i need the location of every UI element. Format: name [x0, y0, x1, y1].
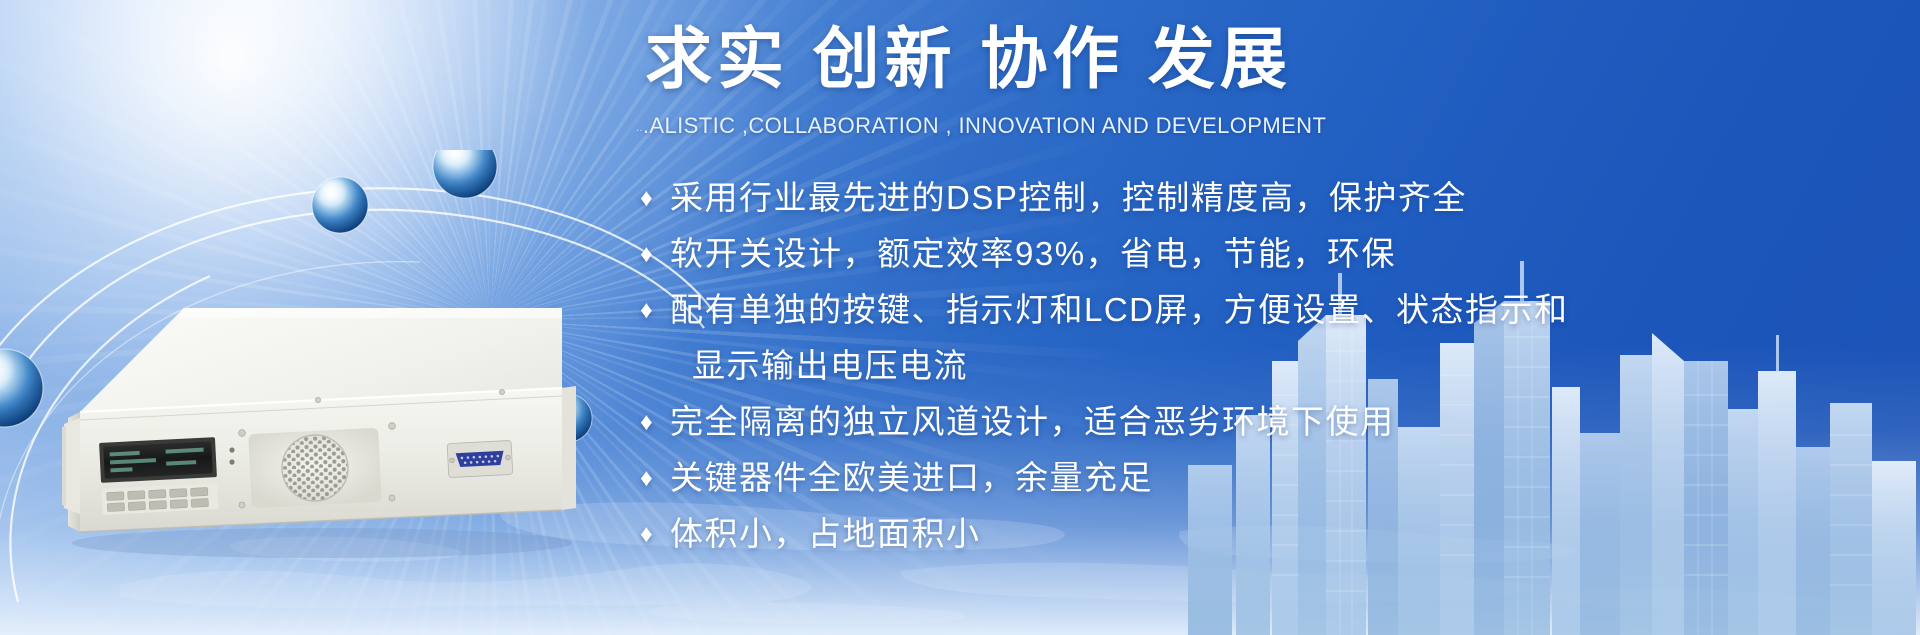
feature-list: ♦ 采用行业最先进的DSP控制，控制精度高，保护齐全 ♦ 软开关设计，额定效率9…	[640, 170, 1910, 562]
diamond-bullet-icon: ♦	[640, 506, 670, 562]
promo-banner: 求实 创新 协作 发展 ...ALISTIC ,COLLABORATION , …	[0, 0, 1920, 635]
diamond-bullet-icon: ♦	[640, 282, 670, 338]
list-item-label: 采用行业最先进的DSP控制，控制精度高，保护齐全	[670, 170, 1467, 226]
diamond-bullet-icon: ♦	[640, 394, 670, 450]
list-item-label: 完全隔离的独立风道设计，适合恶劣环境下使用	[670, 394, 1395, 450]
subtitle-text: .ALISTIC ,COLLABORATION , INNOVATION AND…	[643, 113, 1326, 138]
list-item-label: 软开关设计，额定效率93%，省电，节能，环保	[670, 226, 1396, 282]
list-item-label: 配有单独的按键、指示灯和LCD屏，方便设置、状态指示和	[670, 282, 1569, 338]
subtitle-prefix: ..	[636, 122, 643, 134]
list-item: ♦ 软开关设计，额定效率93%，省电，节能，环保	[640, 226, 1910, 282]
page-subtitle: ...ALISTIC ,COLLABORATION , INNOVATION A…	[636, 113, 1326, 139]
list-item: ♦ 配有单独的按键、指示灯和LCD屏，方便设置、状态指示和	[640, 282, 1910, 338]
text-content: 求实 创新 协作 发展 ...ALISTIC ,COLLABORATION , …	[0, 0, 1920, 635]
diamond-bullet-icon: ♦	[640, 170, 670, 226]
list-item: ♦ 完全隔离的独立风道设计，适合恶劣环境下使用	[640, 394, 1910, 450]
list-item-label: 显示输出电压电流	[670, 338, 968, 394]
list-item-label: 体积小，占地面积小	[670, 506, 981, 562]
page-title: 求实 创新 协作 发展	[645, 26, 1292, 93]
diamond-bullet-icon: ♦	[640, 226, 670, 282]
diamond-bullet-icon: ♦	[640, 450, 670, 506]
list-item: ♦ 体积小，占地面积小	[640, 506, 1910, 562]
list-item: ♦ 显示输出电压电流	[640, 338, 1910, 394]
list-item: ♦ 关键器件全欧美进口，余量充足	[640, 450, 1910, 506]
list-item: ♦ 采用行业最先进的DSP控制，控制精度高，保护齐全	[640, 170, 1910, 226]
list-item-label: 关键器件全欧美进口，余量充足	[670, 450, 1153, 506]
